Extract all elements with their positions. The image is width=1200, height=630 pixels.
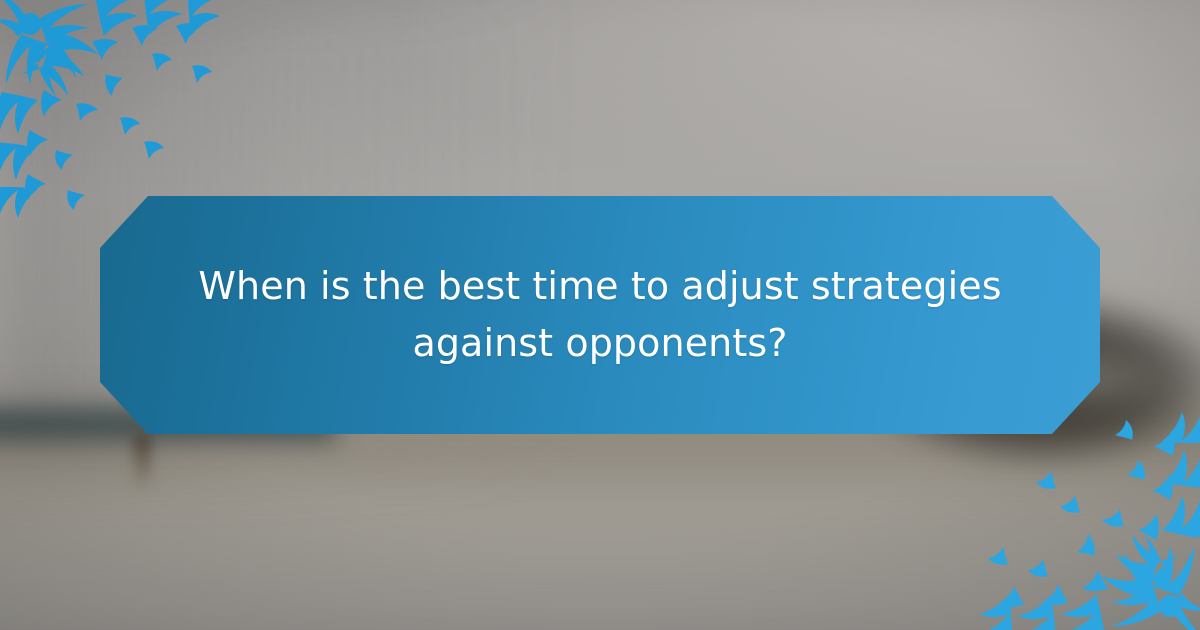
screenshot-canvas: When is the best time to adjust strategi… [0,0,1200,630]
question-banner: When is the best time to adjust strategi… [100,196,1100,434]
question-text: When is the best time to adjust strategi… [164,258,1036,372]
